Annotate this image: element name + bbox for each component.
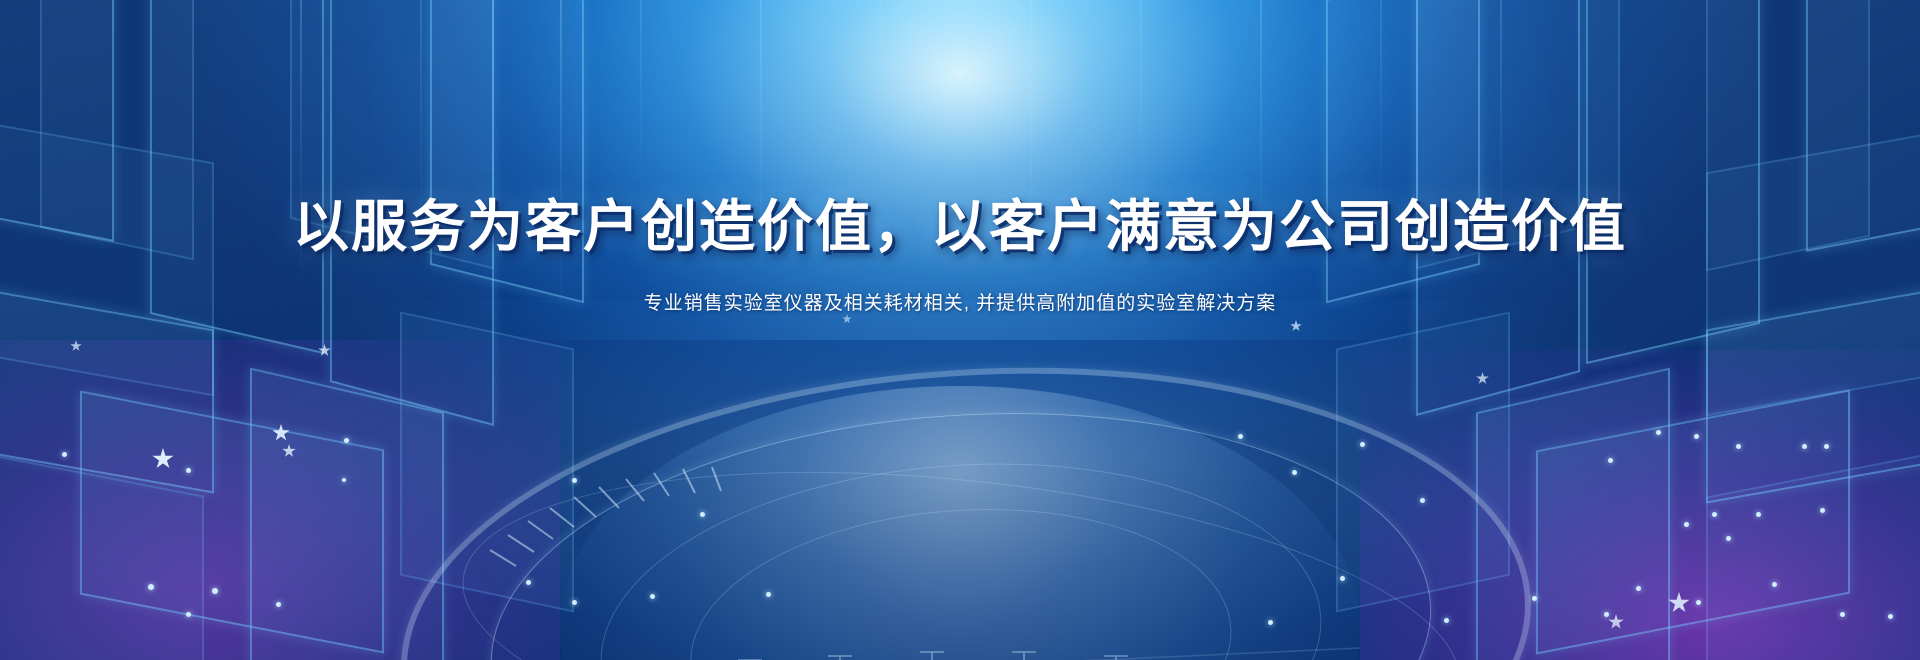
sparkle-star xyxy=(152,448,174,470)
page-title: 以服务为客户创造价值，以客户满意为公司创造价值 xyxy=(0,196,1920,258)
right-wall-panels xyxy=(0,0,1920,660)
banner-content: 以服务为客户创造价值，以客户满意为公司创造价值 专业销售实验室仪器及相关耗材相关… xyxy=(0,196,1920,315)
globe-ring-inner xyxy=(589,440,1334,660)
globe-ring-core xyxy=(681,491,1241,660)
sparkle-star xyxy=(842,314,852,324)
right-purple-glow xyxy=(1360,350,1920,660)
sparkle-star xyxy=(1290,320,1302,332)
page-subtitle: 专业销售实验室仪器及相关耗材相关, 并提供高附加值的实验室解决方案 xyxy=(0,288,1920,315)
sparkle-star xyxy=(1476,372,1489,385)
globe-ring-tilt xyxy=(447,428,1475,660)
tech-globe xyxy=(420,330,1500,660)
horizon-glow xyxy=(210,300,1710,660)
globe-ring-mid xyxy=(476,383,1447,660)
sparkle-star xyxy=(70,340,82,352)
light-streaks xyxy=(0,0,1920,660)
globe-core xyxy=(560,386,1360,660)
left-wall-panels xyxy=(0,0,1920,660)
left-purple-glow xyxy=(0,340,560,660)
sparkle-star xyxy=(1668,592,1690,614)
sparkle-star xyxy=(282,444,296,458)
globe-hud-overlay xyxy=(420,330,1500,660)
sparkle-star xyxy=(318,344,331,357)
sparkle-star xyxy=(1608,614,1624,630)
globe-ring-outer xyxy=(383,331,1549,660)
hero-banner: 以服务为客户创造价值，以客户满意为公司创造价值 专业销售实验室仪器及相关耗材相关… xyxy=(0,0,1920,660)
particle-field xyxy=(0,0,1920,660)
sparkle-star xyxy=(272,424,290,442)
